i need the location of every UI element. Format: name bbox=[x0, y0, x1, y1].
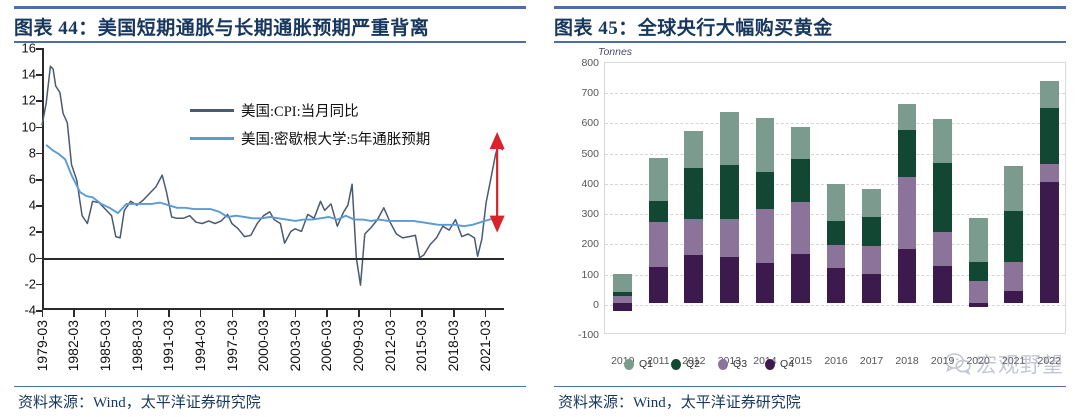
legend-item-q4[interactable]: Q4 bbox=[765, 358, 794, 370]
bar-segment-q2 bbox=[933, 163, 952, 232]
right-chart-legend: Q1Q2Q3Q4 bbox=[624, 358, 794, 370]
x-tick-label: 1985-03 bbox=[97, 320, 113, 371]
y-tick-label: 200 bbox=[581, 238, 599, 250]
watermark: 宏观野望 bbox=[945, 349, 1064, 379]
legend-label-q1: Q1 bbox=[639, 358, 653, 370]
y-tick-label: 0 bbox=[29, 250, 36, 265]
bar-segment-q3 bbox=[649, 222, 668, 267]
y-tick-label: 8 bbox=[29, 145, 36, 160]
x-tick bbox=[326, 310, 328, 317]
table-row bbox=[1040, 61, 1059, 333]
bar-segment-q1 bbox=[1004, 166, 1023, 211]
bar-segment-q3 bbox=[1004, 262, 1023, 291]
y-tick-label: 400 bbox=[581, 178, 599, 190]
x-tick-label: 2009-03 bbox=[350, 320, 366, 371]
x-tick bbox=[200, 310, 202, 317]
figure-45-panel: 图表 45：全球央行大幅购买黄金 Tonnes 8007006005004003… bbox=[540, 0, 1080, 417]
table-row bbox=[684, 61, 703, 333]
legend-dot-q2 bbox=[671, 359, 681, 370]
legend-item-q2[interactable]: Q2 bbox=[671, 358, 700, 370]
left-chart-series-svg bbox=[42, 48, 504, 310]
x-tick bbox=[485, 310, 487, 317]
x-tick bbox=[295, 310, 297, 317]
legend-dot-q1 bbox=[624, 359, 634, 370]
x-tick-label: 2006-03 bbox=[318, 320, 334, 371]
legend-label-q3: Q3 bbox=[733, 358, 747, 370]
y-tick-label: 800 bbox=[581, 57, 599, 69]
bar-segment-q4 bbox=[969, 303, 988, 307]
panel-bottom-rule bbox=[14, 386, 526, 388]
right-chart-unit-label: Tonnes bbox=[598, 46, 632, 58]
bar-segment-q4 bbox=[684, 255, 703, 303]
y-tick-label: 700 bbox=[581, 87, 599, 99]
table-row bbox=[933, 61, 952, 333]
x-tick-label: 1994-03 bbox=[192, 320, 208, 371]
bar-segment-q2 bbox=[720, 165, 739, 219]
bar-segment-q1 bbox=[1040, 81, 1059, 108]
x-tick-label: 2000-03 bbox=[255, 320, 271, 371]
x-tick-label: 1997-03 bbox=[224, 320, 240, 371]
cpi-vs-expectations-line-chart: 1614121086420-2-4 1979-031982-031985-031… bbox=[42, 48, 504, 310]
x-tick bbox=[453, 310, 455, 317]
x-tick-label: 2021-03 bbox=[477, 320, 493, 371]
x-tick bbox=[358, 310, 360, 317]
bar-segment-q4 bbox=[1040, 182, 1059, 303]
bar-segment-q1 bbox=[613, 274, 632, 292]
left-chart-legend: 美国:CPI:当月同比 美国:密歇根大学:5年通胀预期 bbox=[190, 100, 430, 149]
arrow-head-down bbox=[490, 216, 505, 233]
bar-segment-q3 bbox=[898, 177, 917, 250]
zero-line bbox=[42, 258, 504, 260]
bar-segment-q4 bbox=[756, 263, 775, 303]
legend-item-expectations: 美国:密歇根大学:5年通胀预期 bbox=[190, 128, 430, 149]
x-tick-label: 1988-03 bbox=[129, 320, 145, 371]
x-tick bbox=[263, 310, 265, 317]
bar-segment-q1 bbox=[827, 184, 846, 221]
table-row bbox=[862, 61, 881, 333]
panel-bottom-rule bbox=[554, 386, 1066, 388]
y-tick-label: 6 bbox=[29, 172, 36, 187]
table-row bbox=[791, 61, 810, 333]
bar-segment-q4 bbox=[898, 249, 917, 302]
bar-segment-q2 bbox=[969, 262, 988, 281]
panel-top-rule bbox=[14, 6, 526, 9]
bar-segment-q2 bbox=[613, 292, 632, 296]
figure-44-title: 图表 44：美国短期通胀与长期通胀预期严重背离 bbox=[14, 11, 530, 41]
figure-45-title: 图表 45：全球央行大幅购买黄金 bbox=[554, 11, 1070, 41]
table-row bbox=[756, 61, 775, 333]
bar-segment-q1 bbox=[684, 131, 703, 168]
x-tick bbox=[168, 310, 170, 317]
table-row bbox=[969, 61, 988, 333]
bar-segment-q4 bbox=[933, 266, 952, 303]
y-tick-label: 0 bbox=[593, 299, 599, 311]
bar-segment-q1 bbox=[720, 112, 739, 164]
y-tick-label: -100 bbox=[578, 329, 599, 341]
legend-swatch-expectations bbox=[190, 137, 234, 141]
bar-segment-q2 bbox=[791, 159, 810, 202]
bar-segment-q2 bbox=[684, 168, 703, 219]
bar-segment-q1 bbox=[862, 189, 881, 217]
x-tick bbox=[137, 310, 139, 317]
bar-segment-q2 bbox=[827, 221, 846, 245]
x-tick-label: 2018-03 bbox=[445, 320, 461, 371]
bar-segment-q3 bbox=[933, 232, 952, 266]
table-row bbox=[898, 61, 917, 333]
bar-segment-q3 bbox=[684, 219, 703, 255]
x-tick-label: 2017 bbox=[860, 355, 883, 367]
legend-label-q4: Q4 bbox=[780, 358, 794, 370]
table-row bbox=[720, 61, 739, 333]
inflation-expectation-line bbox=[46, 145, 502, 226]
arrow-head-up bbox=[490, 132, 505, 149]
table-row bbox=[1004, 61, 1023, 333]
bar-segment-q4 bbox=[720, 257, 739, 303]
bar-segment-q4 bbox=[827, 268, 846, 302]
x-axis-baseline bbox=[42, 308, 504, 311]
y-tick-label: 600 bbox=[581, 117, 599, 129]
legend-item-q3[interactable]: Q3 bbox=[718, 358, 747, 370]
x-tick bbox=[390, 310, 392, 317]
figure-pair-container: 图表 44：美国短期通胀与长期通胀预期严重背离 1614121086420-2-… bbox=[0, 0, 1080, 417]
bar-segment-q4 bbox=[1004, 291, 1023, 302]
bar-segment-q4 bbox=[649, 267, 668, 303]
table-row bbox=[649, 61, 668, 333]
legend-swatch-cpi bbox=[190, 109, 234, 113]
bar-segment-q4 bbox=[862, 274, 881, 303]
y-tick-label: -4 bbox=[24, 303, 36, 318]
y-tick-label: 16 bbox=[22, 41, 36, 56]
x-tick bbox=[73, 310, 75, 317]
y-tick-label: 300 bbox=[581, 208, 599, 220]
legend-item-cpi: 美国:CPI:当月同比 bbox=[190, 100, 430, 121]
x-tick bbox=[421, 310, 423, 317]
bar-segment-q3 bbox=[862, 246, 881, 274]
bar-segment-q2 bbox=[756, 172, 775, 209]
x-tick-label: 2016 bbox=[824, 355, 847, 367]
bar-segment-q4 bbox=[791, 254, 810, 303]
y-tick-label: 100 bbox=[581, 269, 599, 281]
bar-segment-q4 bbox=[613, 303, 632, 311]
y-tick-label: 10 bbox=[22, 119, 36, 134]
x-tick bbox=[42, 310, 44, 317]
bar-segment-q2 bbox=[1040, 108, 1059, 164]
legend-label-q2: Q2 bbox=[686, 358, 700, 370]
bar-segment-q1 bbox=[898, 104, 917, 130]
bar-segment-q3 bbox=[827, 245, 846, 269]
bar-segment-q1 bbox=[756, 118, 775, 172]
bar-segment-q3 bbox=[756, 209, 775, 263]
x-tick-label: 2015-03 bbox=[413, 320, 429, 371]
bar-segment-q3 bbox=[969, 281, 988, 303]
y-tick-label: 4 bbox=[29, 198, 36, 213]
right-chart-plot-area: 8007006005004003002001000-100 2010201120… bbox=[604, 62, 1066, 334]
y-tick-label: 2 bbox=[29, 224, 36, 239]
y-tick-label: 500 bbox=[581, 148, 599, 160]
bar-segment-q3 bbox=[1040, 164, 1059, 182]
legend-label-cpi: 美国:CPI:当月同比 bbox=[241, 100, 359, 121]
x-tick bbox=[232, 310, 234, 317]
x-tick-label: 1979-03 bbox=[34, 320, 50, 371]
bar-segment-q3 bbox=[720, 219, 739, 257]
bar-segment-q3 bbox=[613, 296, 632, 303]
y-tick-label: 12 bbox=[22, 93, 36, 108]
figure-44-source: 资料来源：Wind，太平洋证券研究院 bbox=[18, 391, 261, 412]
legend-dot-q4 bbox=[765, 359, 775, 370]
wechat-icon bbox=[945, 353, 971, 375]
x-tick-label: 1991-03 bbox=[160, 320, 176, 371]
x-tick bbox=[105, 310, 107, 317]
y-tick-label: -2 bbox=[24, 276, 36, 291]
bar-segment-q2 bbox=[649, 201, 668, 222]
figure-44-title-underline bbox=[14, 41, 526, 43]
bar-segment-q1 bbox=[791, 127, 810, 158]
y-tick-label: 14 bbox=[22, 67, 36, 82]
bar-segment-q1 bbox=[933, 119, 952, 163]
figure-44-panel: 图表 44：美国短期通胀与长期通胀预期严重背离 1614121086420-2-… bbox=[0, 0, 540, 417]
table-row bbox=[827, 61, 846, 333]
legend-dot-q3 bbox=[718, 359, 728, 370]
bar-segment-q2 bbox=[1004, 211, 1023, 262]
table-row bbox=[613, 61, 632, 333]
figure-45-source: 资料来源：Wind，太平洋证券研究院 bbox=[558, 391, 801, 412]
x-tick-label: 1982-03 bbox=[65, 320, 81, 371]
bar-segment-q1 bbox=[649, 158, 668, 200]
bar-segment-q1 bbox=[969, 218, 988, 262]
divergence-arrow bbox=[490, 132, 505, 233]
panel-top-rule bbox=[554, 6, 1066, 9]
legend-item-q1[interactable]: Q1 bbox=[624, 358, 653, 370]
bar-segment-q2 bbox=[898, 130, 917, 177]
x-tick-label: 2018 bbox=[895, 355, 918, 367]
figure-45-title-underline bbox=[554, 41, 1066, 43]
legend-label-expectations: 美国:密歇根大学:5年通胀预期 bbox=[241, 128, 430, 149]
watermark-label: 宏观野望 bbox=[976, 349, 1064, 379]
x-tick-label: 2012-03 bbox=[382, 320, 398, 371]
central-bank-gold-bar-chart: Tonnes 8007006005004003002001000-100 201… bbox=[552, 46, 1080, 346]
bar-segment-q2 bbox=[862, 217, 881, 246]
x-tick-label: 2003-03 bbox=[287, 320, 303, 371]
bar-segment-q3 bbox=[791, 202, 810, 254]
